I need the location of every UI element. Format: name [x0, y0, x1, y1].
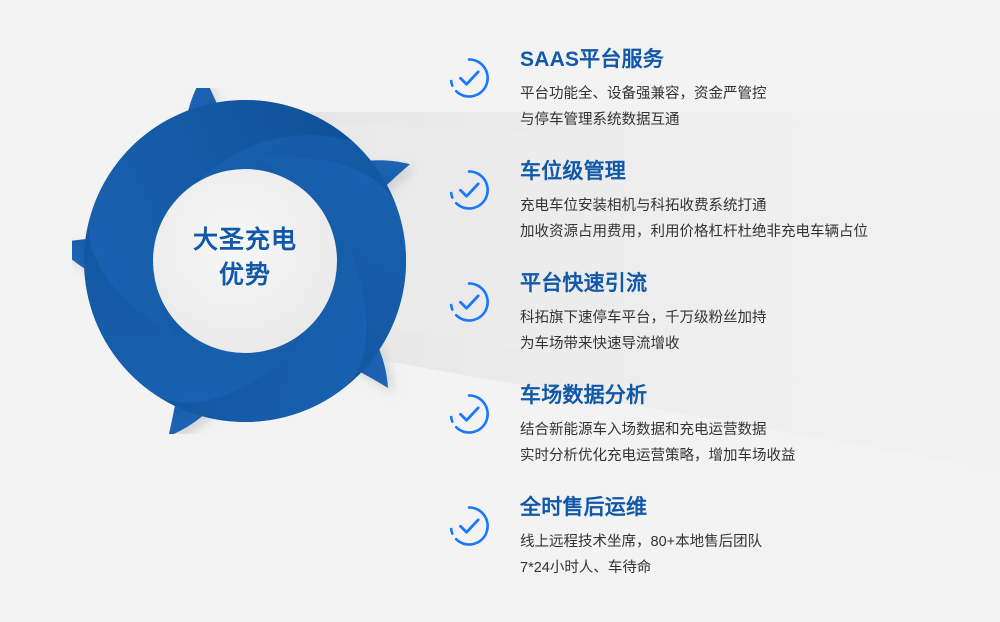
feature-title: 全时售后运维 [520, 493, 960, 522]
feature-body: 全时售后运维 线上远程技术坐席，80+本地售后团队 7*24小时人、车待命 [520, 493, 960, 581]
feature-line: 与停车管理系统数据互通 [520, 107, 960, 133]
feature-description: 充电车位安装相机与科拓收费系统打通 加收资源占用费用，利用价格杠杆杜绝非充电车辆… [520, 193, 960, 245]
feature-title: 平台快速引流 [520, 269, 960, 298]
check-circle-icon [447, 168, 491, 212]
feature-item: 平台快速引流 科拓旗下速停车平台，千万级粉丝加持 为车场带来快速导流增收 [447, 269, 967, 381]
feature-item: 全时售后运维 线上远程技术坐席，80+本地售后团队 7*24小时人、车待命 [447, 493, 967, 605]
logo-caption: 大圣充电 优势 [72, 223, 418, 293]
feature-line: 7*24小时人、车待命 [520, 555, 960, 581]
feature-description: 科拓旗下速停车平台，千万级粉丝加持 为车场带来快速导流增收 [520, 305, 960, 357]
feature-line: 线上远程技术坐席，80+本地售后团队 [520, 529, 960, 555]
feature-body: 车场数据分析 结合新能源车入场数据和充电运营数据 实时分析优化充电运营策略，增加… [520, 381, 960, 469]
feature-title: SAAS平台服务 [520, 45, 960, 74]
check-circle-icon [447, 280, 491, 324]
feature-description: 平台功能全、设备强兼容，资金严管控 与停车管理系统数据互通 [520, 81, 960, 133]
check-circle-icon [447, 56, 491, 100]
logo-block: 大圣充电 优势 [72, 88, 418, 434]
check-circle-icon [447, 392, 491, 436]
feature-body: SAAS平台服务 平台功能全、设备强兼容，资金严管控 与停车管理系统数据互通 [520, 45, 960, 133]
feature-line: 平台功能全、设备强兼容，资金严管控 [520, 81, 960, 107]
feature-line: 充电车位安装相机与科拓收费系统打通 [520, 193, 960, 219]
logo-caption-line-1: 大圣充电 [72, 223, 418, 258]
feature-line: 实时分析优化充电运营策略，增加车场收益 [520, 443, 960, 469]
check-circle-icon [447, 504, 491, 548]
feature-line: 科拓旗下速停车平台，千万级粉丝加持 [520, 305, 960, 331]
feature-title: 车场数据分析 [520, 381, 960, 410]
feature-body: 车位级管理 充电车位安装相机与科拓收费系统打通 加收资源占用费用，利用价格杠杆杜… [520, 157, 960, 245]
feature-item: 车位级管理 充电车位安装相机与科拓收费系统打通 加收资源占用费用，利用价格杠杆杜… [447, 157, 967, 269]
feature-list: SAAS平台服务 平台功能全、设备强兼容，资金严管控 与停车管理系统数据互通 车… [447, 45, 967, 605]
feature-item: 车场数据分析 结合新能源车入场数据和充电运营数据 实时分析优化充电运营策略，增加… [447, 381, 967, 493]
feature-line: 结合新能源车入场数据和充电运营数据 [520, 417, 960, 443]
feature-line: 加收资源占用费用，利用价格杠杆杜绝非充电车辆占位 [520, 219, 960, 245]
feature-line: 为车场带来快速导流增收 [520, 331, 960, 357]
feature-body: 平台快速引流 科拓旗下速停车平台，千万级粉丝加持 为车场带来快速导流增收 [520, 269, 960, 357]
feature-description: 结合新能源车入场数据和充电运营数据 实时分析优化充电运营策略，增加车场收益 [520, 417, 960, 469]
feature-description: 线上远程技术坐席，80+本地售后团队 7*24小时人、车待命 [520, 529, 960, 581]
feature-item: SAAS平台服务 平台功能全、设备强兼容，资金严管控 与停车管理系统数据互通 [447, 45, 967, 157]
infographic-page: 大圣充电 优势 SAAS平台服务 平台功能全、设备强兼容，资金严管控 与停车管理… [0, 0, 1000, 622]
logo-caption-line-2: 优势 [72, 258, 418, 293]
feature-title: 车位级管理 [520, 157, 960, 186]
